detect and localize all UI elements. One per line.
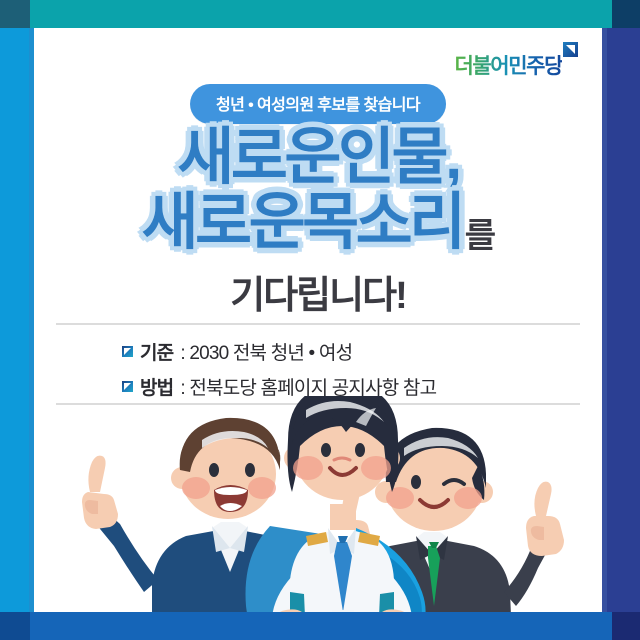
- headline-line-3: 기다립니다!: [34, 264, 602, 319]
- frame-top-strip: [0, 0, 640, 28]
- frame-bottom-left-corner: [0, 612, 30, 640]
- frame-top-right-corner: [612, 0, 640, 28]
- party-logo-mark-shape: [566, 45, 575, 54]
- party-logo: 더불어민주당: [454, 44, 578, 77]
- detail-row: 기준 : 2030 전북 청년 • 여성: [122, 338, 436, 365]
- headline-line-1: 새로운인물,: [177, 123, 458, 192]
- headline-block: 새로운인물, 새로운목소리를 기다립니다!: [34, 128, 602, 319]
- divider-above-details: [56, 323, 580, 325]
- poster-canvas: 더불어민주당 청년 • 여성의원 후보를 찾습니다 새로운인물, 새로운목소리를…: [0, 0, 640, 640]
- detail-value: : 2030 전북 청년 • 여성: [180, 338, 352, 365]
- characters-illustration: [34, 396, 602, 612]
- headline-badge: 청년 • 여성의원 후보를 찾습니다: [190, 84, 446, 124]
- frame-bottom-right-corner: [612, 612, 640, 640]
- party-logo-mark-icon: [563, 42, 578, 57]
- party-logo-text: 더불어민주당: [454, 44, 562, 77]
- frame-left-rail: [0, 28, 34, 612]
- frame-bottom-strip: [0, 612, 640, 640]
- poster-content-card: 더불어민주당 청년 • 여성의원 후보를 찾습니다 새로운인물, 새로운목소리를…: [34, 28, 602, 612]
- square-bullet-icon: [122, 346, 133, 357]
- frame-right-rail: [602, 28, 640, 612]
- detail-label: 기준: [140, 338, 173, 365]
- headline-line-2: 새로운목소리: [141, 188, 462, 257]
- frame-top-left-corner: [0, 0, 30, 28]
- headline-line-2-suffix: 를: [465, 217, 495, 255]
- square-bullet-icon: [122, 381, 133, 392]
